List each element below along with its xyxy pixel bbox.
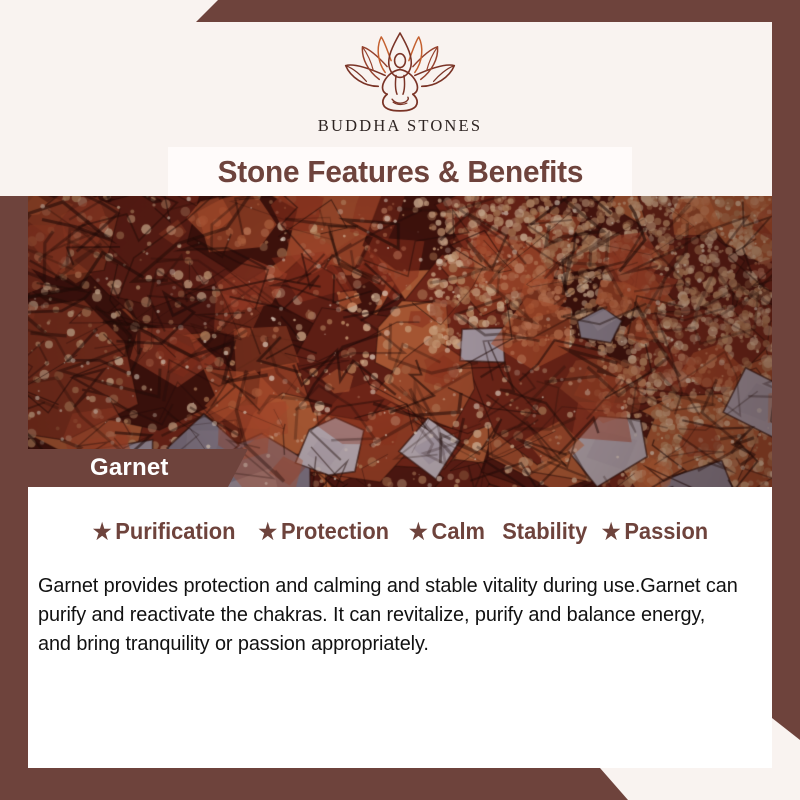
features-list: ★Purification★Protection★CalmStability★P…	[28, 518, 772, 545]
feature-label: Protection	[281, 518, 389, 545]
feature-passion: ★Passion	[601, 518, 707, 545]
decorative-right-band	[772, 0, 800, 740]
decorative-bottom-bar	[0, 768, 800, 800]
photo-canvas	[0, 196, 800, 487]
feature-protection: ★Protection	[258, 518, 389, 545]
garnet-crystal-cluster-photo	[0, 196, 800, 487]
feature-label: Passion	[624, 518, 708, 545]
feature-stability: Stability	[502, 518, 587, 545]
star-icon: ★	[93, 521, 112, 543]
feature-label: Stability	[502, 518, 587, 545]
feature-purification: ★Purification	[93, 518, 236, 545]
star-icon: ★	[601, 521, 620, 543]
content-panel: ★Purification★Protection★CalmStability★P…	[28, 487, 772, 768]
stone-info-card: BUDDHA STONES Stone Features & Benefits …	[0, 0, 800, 800]
decorative-top-bar	[0, 0, 800, 22]
description-text: Garnet provides protection and calming a…	[38, 571, 738, 658]
brand-name: BUDDHA STONES	[318, 116, 482, 136]
stone-name-label: Garnet	[0, 449, 248, 487]
star-icon: ★	[258, 521, 277, 543]
page-title: Stone Features & Benefits	[217, 154, 583, 190]
star-icon: ★	[409, 521, 428, 543]
feature-label: Purification	[116, 518, 236, 545]
stone-name-text: Garnet	[90, 454, 169, 482]
feature-label: Calm	[432, 518, 485, 545]
title-banner: Stone Features & Benefits	[168, 147, 632, 196]
lotus-meditation-figure-icon	[335, 30, 465, 114]
feature-calm: ★Calm	[409, 518, 485, 545]
decorative-left-band	[0, 196, 28, 800]
